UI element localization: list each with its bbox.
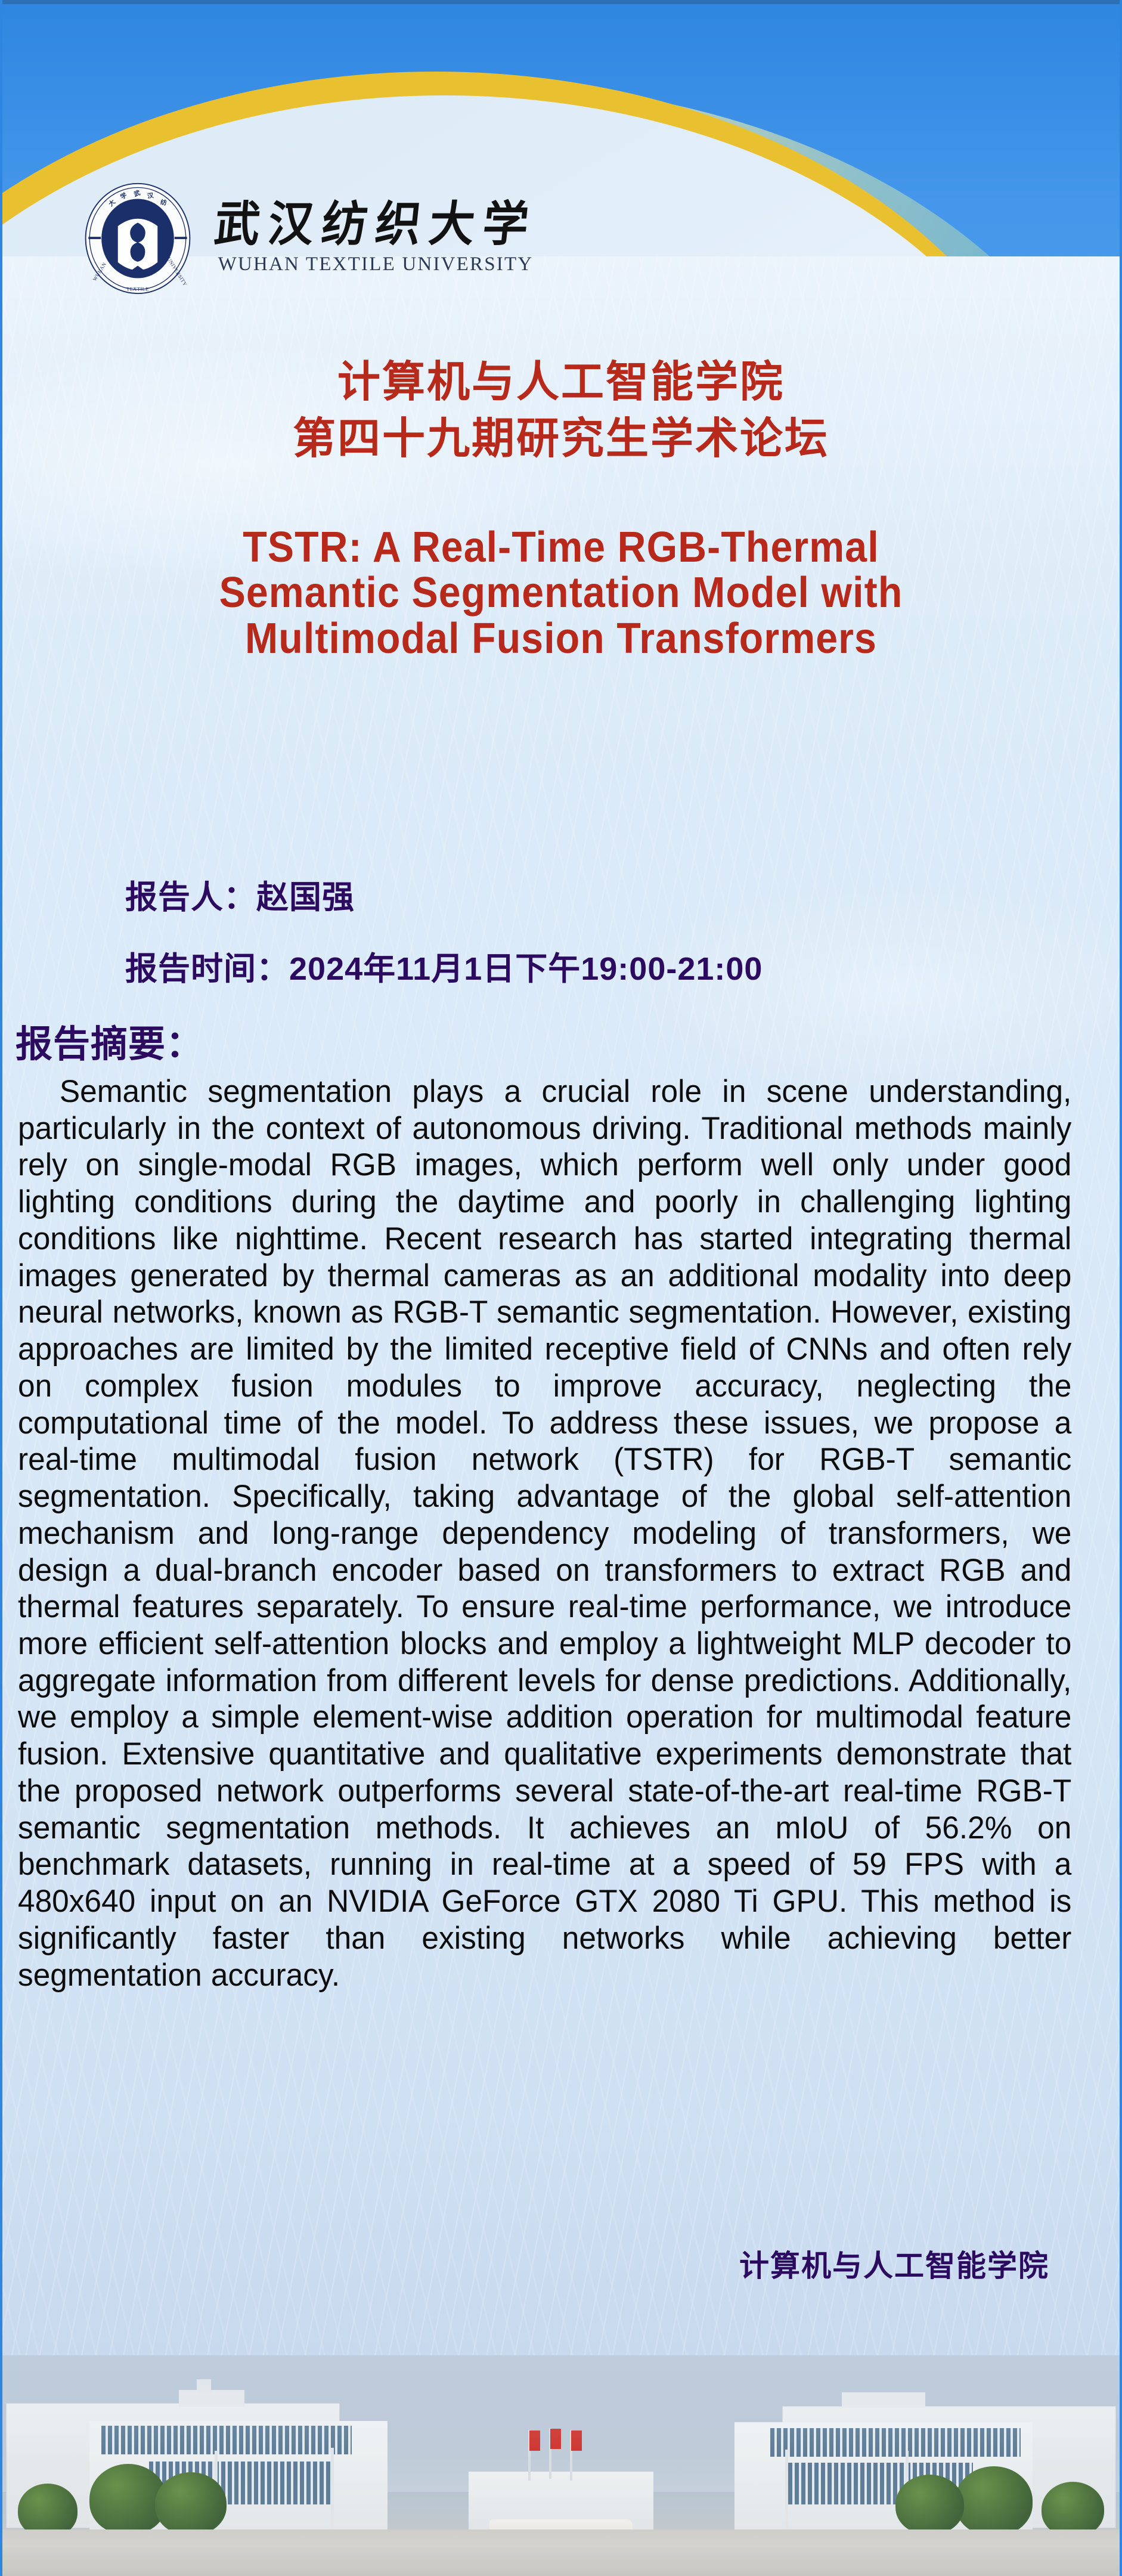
university-name-en: WUHAN TEXTILE UNIVERSITY — [218, 253, 534, 275]
poster-content: 武 汉 学 纺 大 TEXTILE WUHAN UNIVERSITY 武汉纺织大… — [0, 0, 1122, 2576]
college-name-heading: 计算机与人工智能学院 — [0, 355, 1122, 411]
university-wordmark: 武汉纺织大学 WUHAN TEXTILE UNIVERSITY — [215, 202, 537, 275]
university-seal-icon: 武 汉 学 纺 大 TEXTILE WUHAN UNIVERSITY — [83, 182, 192, 295]
talk-time-line: 报告时间：2024年11月1日下午19:00-21:00 — [125, 942, 763, 989]
speaker-line: 报告人：赵国强 — [125, 871, 355, 918]
abstract-body: Semantic segmentation plays a crucial ro… — [18, 1073, 1071, 1993]
abstract-heading: 报告摘要： — [16, 1014, 203, 1067]
photo-haze-overlay — [0, 2355, 1122, 2576]
talk-title: TSTR: A Real-Time RGB-Thermal Semantic S… — [154, 525, 967, 661]
university-logo: 武 汉 学 纺 大 TEXTILE WUHAN UNIVERSITY 武汉纺织大… — [83, 182, 537, 295]
department-signature: 计算机与人工智能学院 — [0, 2242, 1049, 2285]
poster-root: 武 汉 学 纺 大 TEXTILE WUHAN UNIVERSITY 武汉纺织大… — [0, 0, 1122, 2576]
campus-photo — [0, 2355, 1122, 2576]
svg-text:TEXTILE: TEXTILE — [126, 286, 149, 292]
forum-name-heading: 第四十九期研究生学术论坛 — [0, 411, 1122, 467]
university-name-cn: 武汉纺织大学 — [212, 200, 539, 249]
